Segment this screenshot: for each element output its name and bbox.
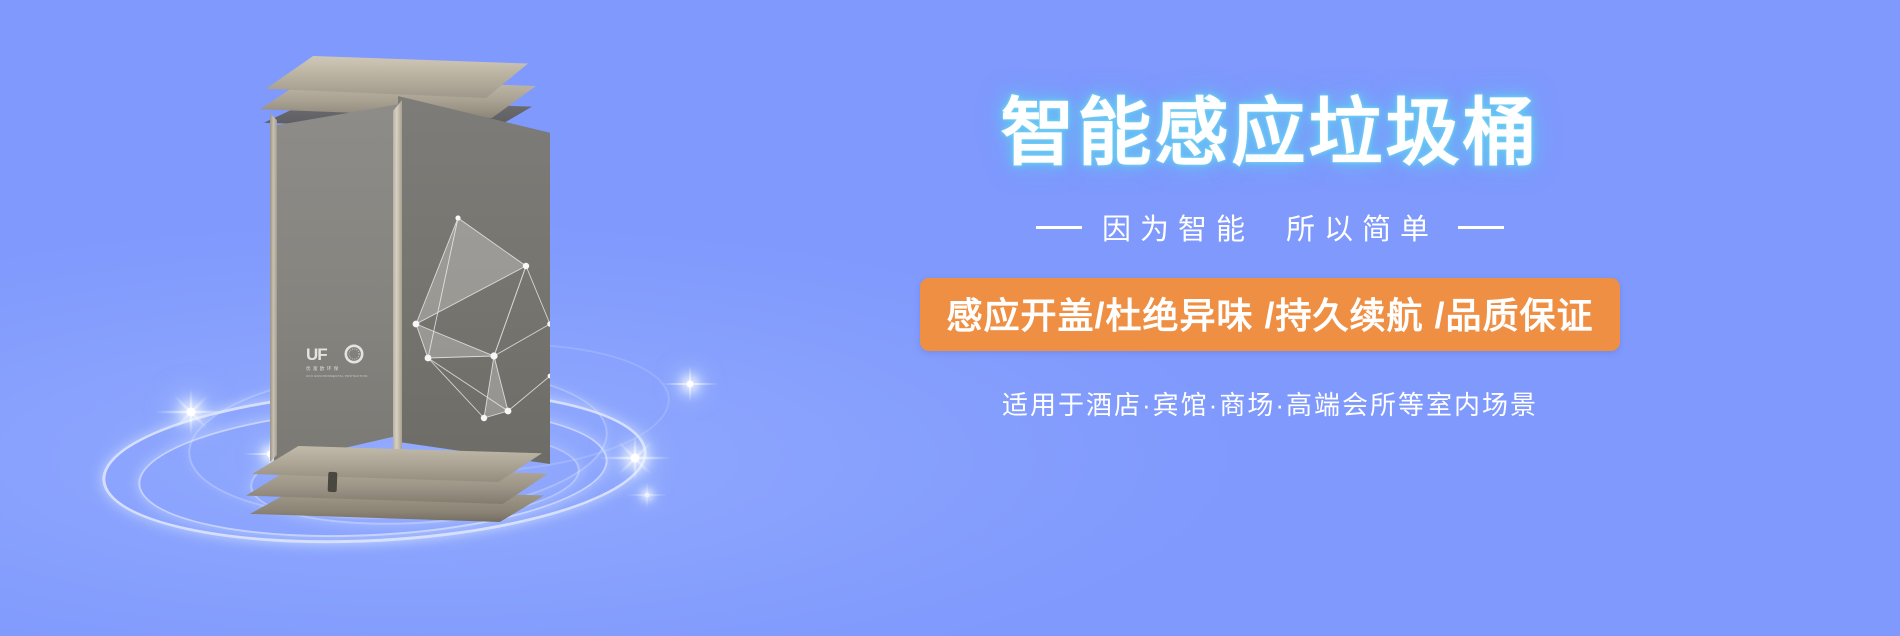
logo-text-en: UFO ENVIRONMENTAL PROTECTION bbox=[306, 374, 372, 379]
subline-dash-right bbox=[1458, 226, 1504, 229]
bin-face-right bbox=[398, 96, 550, 464]
subline-part-b: 所以简单 bbox=[1286, 206, 1438, 248]
usage-scenario-tagline: 适用于酒店·宾馆·商场·高端会所等室内场景 bbox=[1002, 385, 1538, 422]
product-stage: UF 优 富 欧 环 保 UFO ENVIRONMENTAL PROTECTIO… bbox=[60, 30, 760, 560]
ufo-wordmark-icon: UF bbox=[306, 344, 370, 364]
promo-banner: UF 优 富 欧 环 保 UFO ENVIRONMENTAL PROTECTIO… bbox=[0, 0, 1900, 636]
bin-corner-edge bbox=[393, 100, 402, 466]
polygon-network-graphic bbox=[398, 206, 550, 456]
subline-dash-left bbox=[1036, 226, 1082, 229]
subline-slogan: 因为智能 所以简单 bbox=[1036, 206, 1504, 248]
brand-logo-ufo: UF 优 富 欧 环 保 UFO ENVIRONMENTAL PROTECTIO… bbox=[306, 344, 372, 390]
logo-mark: UF bbox=[306, 344, 372, 364]
product-image-trash-bin: UF 优 富 欧 环 保 UFO ENVIRONMENTAL PROTECTIO… bbox=[230, 48, 560, 478]
banner-copy-block: 智能感应垃圾桶 因为智能 所以简单 感应开盖/杜绝异味 /持久续航 /品质保证 … bbox=[880, 96, 1660, 516]
bin-face-left bbox=[274, 104, 400, 464]
svg-text:UF: UF bbox=[306, 345, 327, 364]
logo-text-cn: 优 富 欧 环 保 bbox=[306, 366, 372, 372]
bin-base-slot bbox=[328, 472, 338, 492]
bin-left-edge bbox=[270, 106, 277, 462]
headline-title: 智能感应垃圾桶 bbox=[1001, 96, 1540, 170]
feature-highlight-bar: 感应开盖/杜绝异味 /持久续航 /品质保证 bbox=[920, 278, 1619, 351]
subline-part-a: 因为智能 bbox=[1102, 206, 1266, 248]
